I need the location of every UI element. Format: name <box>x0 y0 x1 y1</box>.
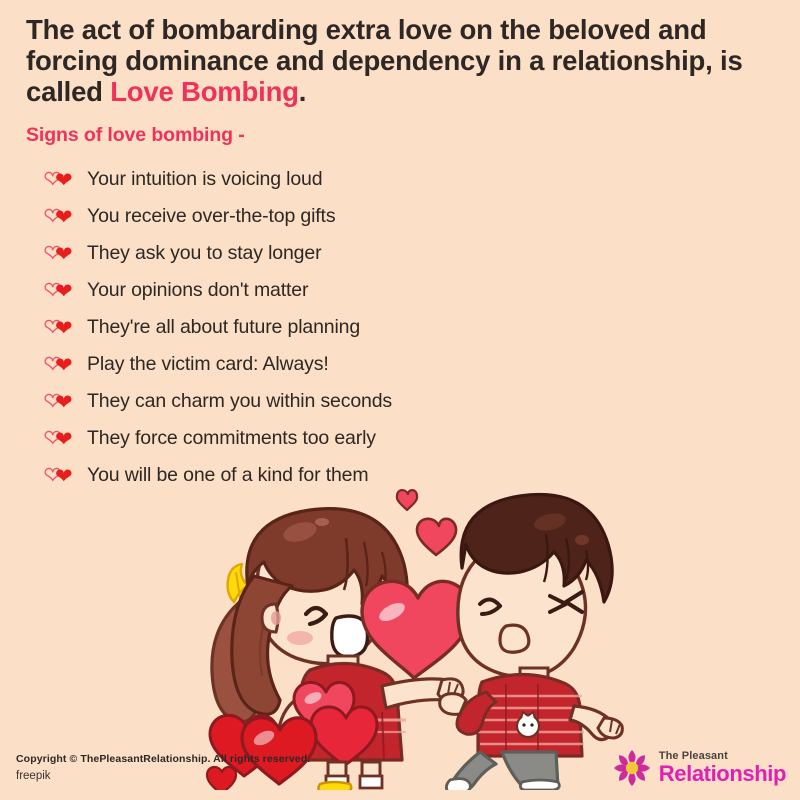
couple-exchanging-hearts-illustration <box>150 480 670 790</box>
list-item-label: They ask you to stay longer <box>87 242 321 265</box>
heading-line-1: The act of bombarding extra love on the … <box>26 14 706 45</box>
heading-accent-term: Love Bombing <box>110 76 299 107</box>
heading-line-2: forcing dominance and dependency in a re… <box>26 45 713 76</box>
list-item: ❤❤ Your opinions don't matter <box>44 272 744 309</box>
double-heart-icon: ❤❤ <box>44 317 78 339</box>
page-title: The act of bombarding extra love on the … <box>26 14 766 107</box>
list-item-label: Your intuition is voicing loud <box>87 168 322 191</box>
double-heart-icon: ❤❤ <box>44 169 78 191</box>
double-heart-icon: ❤❤ <box>44 428 78 450</box>
signs-list: ❤❤ Your intuition is voicing loud ❤❤ You… <box>44 161 744 494</box>
list-item-label: They can charm you within seconds <box>87 390 392 413</box>
list-item-label: Play the victim card: Always! <box>87 353 329 376</box>
logo-wordmark: The Pleasant Relationship <box>659 751 786 785</box>
double-heart-icon: ❤❤ <box>44 354 78 376</box>
list-item: ❤❤ Your intuition is voicing loud <box>44 161 744 198</box>
double-heart-icon: ❤❤ <box>44 391 78 413</box>
double-heart-icon: ❤❤ <box>44 206 78 228</box>
list-item: ❤❤ They ask you to stay longer <box>44 235 744 272</box>
double-heart-icon: ❤❤ <box>44 465 78 487</box>
list-item: ❤❤ You receive over-the-top gifts <box>44 198 744 235</box>
list-item-label: They're all about future planning <box>87 316 360 339</box>
double-heart-icon: ❤❤ <box>44 280 78 302</box>
list-item-label: They force commitments too early <box>87 427 376 450</box>
brand-logo[interactable]: The Pleasant Relationship <box>613 749 786 787</box>
copyright-text: Copyright © ThePleasantRelationship. All… <box>16 753 310 765</box>
infographic-canvas: The act of bombarding extra love on the … <box>0 0 800 800</box>
floating-hearts <box>397 490 456 555</box>
starburst-flower-icon <box>613 749 651 787</box>
list-item: ❤❤ Play the victim card: Always! <box>44 346 744 383</box>
signs-subheading: Signs of love bombing - <box>26 124 245 147</box>
image-credit-text: freepik <box>16 770 51 782</box>
list-item: ❤❤ They force commitments too early <box>44 420 744 457</box>
logo-bottom-text: Relationship <box>659 763 786 785</box>
heading-line-3-suffix: . <box>299 76 306 107</box>
list-item-label: Your opinions don't matter <box>87 279 308 302</box>
list-item: ❤❤ They can charm you within seconds <box>44 383 744 420</box>
list-item: ❤❤ They're all about future planning <box>44 309 744 346</box>
double-heart-icon: ❤❤ <box>44 243 78 265</box>
list-item-label: You receive over-the-top gifts <box>87 205 335 228</box>
